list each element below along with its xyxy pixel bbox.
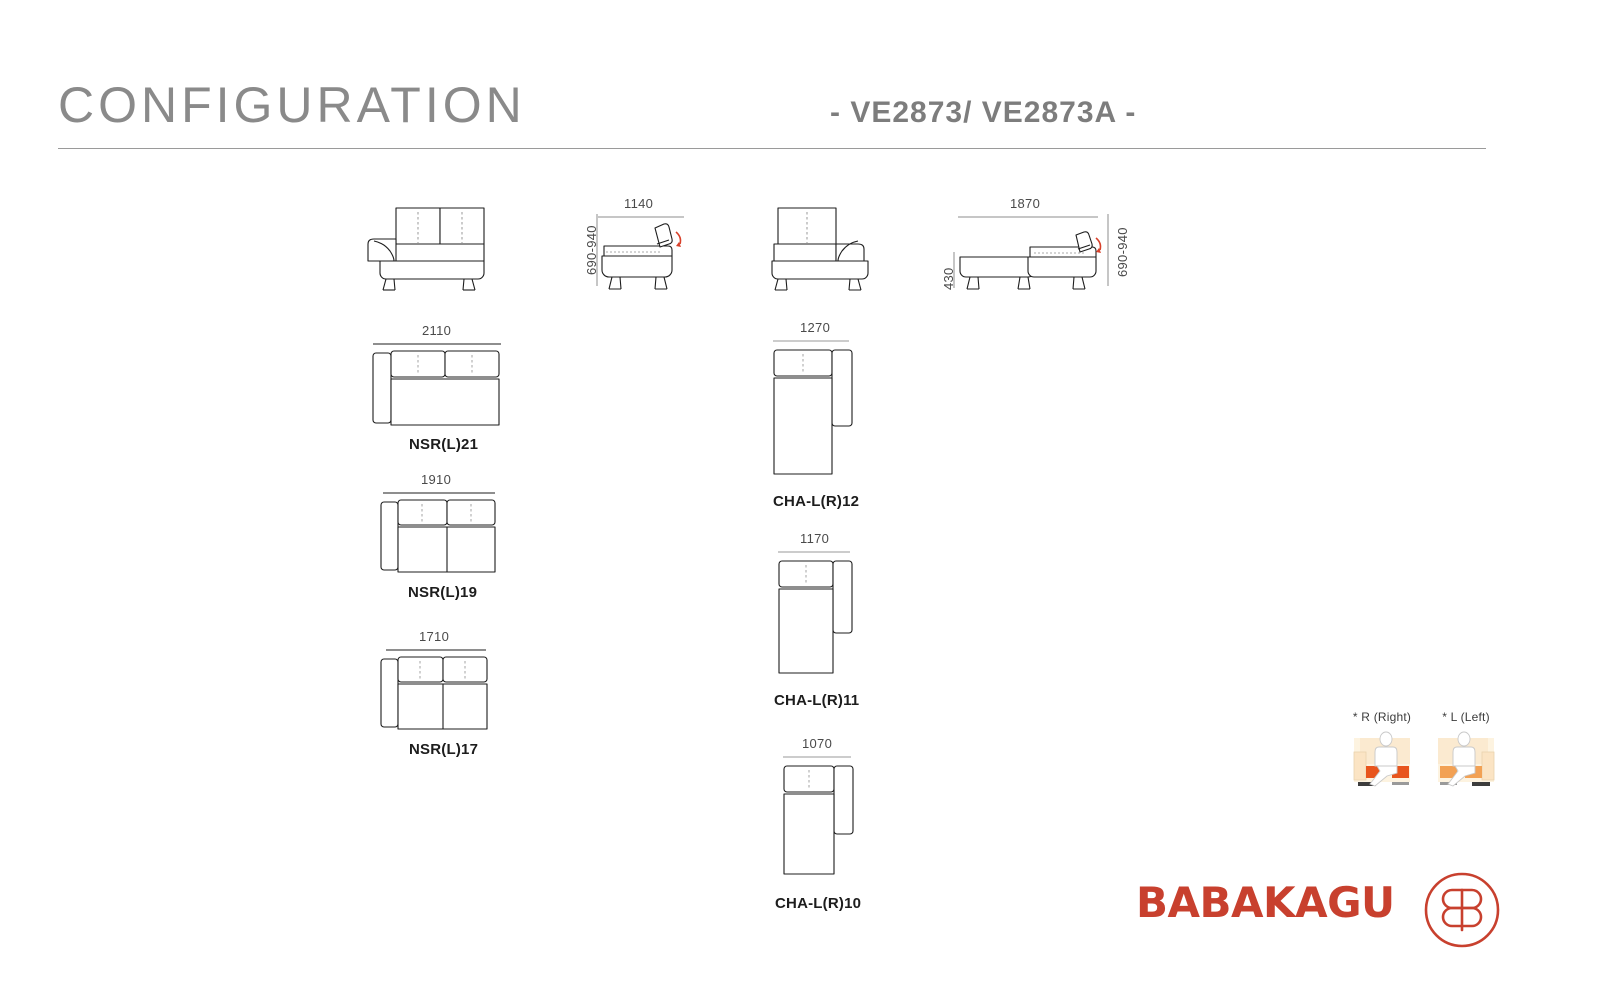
cha10-plan [783, 764, 855, 876]
chaise-back-height-dim: 690-940 [1115, 227, 1130, 277]
chaise-side-width-dim: 1870 [1010, 196, 1040, 211]
right-orientation-icon [1348, 728, 1416, 790]
legend-left: * L (Left) [1432, 710, 1500, 795]
sofa-side-width-dim: 1140 [624, 196, 653, 211]
cha11-dimline [778, 549, 850, 555]
orientation-legend: * R (Right) * L (Left) [1348, 710, 1508, 810]
chaise-side-width-dimline [958, 214, 1098, 222]
nsr17-label: NSR(L)17 [409, 741, 478, 758]
legend-right: * R (Right) [1348, 710, 1416, 795]
sofa-side-drawing [600, 222, 684, 292]
nsr19-dim: 1910 [421, 472, 451, 487]
cha12-plan [773, 348, 853, 476]
cha12-dimline [773, 338, 849, 344]
nsr19-dimline [383, 490, 495, 496]
nsr19-plan [381, 498, 497, 574]
cha12-label: CHA-L(R)12 [773, 493, 859, 510]
nsr19-label: NSR(L)19 [408, 584, 477, 601]
nsr21-dim: 2110 [422, 323, 451, 338]
legend-left-caption: * L (Left) [1432, 710, 1500, 724]
brand-wordmark: BABAKAGU [1136, 878, 1395, 927]
sofa-side-width-dimline [598, 214, 684, 222]
chaise-back-height-dimline [1104, 214, 1112, 286]
header-divider [58, 148, 1486, 149]
left-orientation-icon [1432, 728, 1500, 790]
legend-right-caption: * R (Right) [1348, 710, 1416, 724]
cha10-label: CHA-L(R)10 [775, 895, 861, 912]
nsr17-plan [381, 655, 491, 731]
brand-monogram-icon [1420, 868, 1504, 952]
configuration-sheet: CONFIGURATION - VE2873/ VE2873A - [0, 0, 1600, 1000]
cha10-dim: 1070 [802, 736, 832, 751]
chaise-side-drawing [958, 235, 1100, 293]
page-title: CONFIGURATION [58, 80, 526, 130]
nsr21-plan [373, 349, 501, 427]
nsr17-dimline [386, 647, 486, 653]
cha10-dimline [783, 754, 851, 760]
cha11-label: CHA-L(R)11 [774, 692, 859, 709]
cha11-dim: 1170 [800, 531, 829, 546]
sofa-front-elevation [360, 203, 510, 293]
nsr21-dimline [373, 341, 501, 347]
model-number-title: - VE2873/ VE2873A - [830, 96, 1136, 130]
cha12-dim: 1270 [800, 320, 830, 335]
nsr17-dim: 1710 [419, 629, 449, 644]
chaise-front-elevation [768, 203, 874, 293]
nsr21-label: NSR(L)21 [409, 436, 478, 453]
cha11-plan [778, 559, 854, 675]
chaise-seat-height-dimline [950, 252, 958, 288]
